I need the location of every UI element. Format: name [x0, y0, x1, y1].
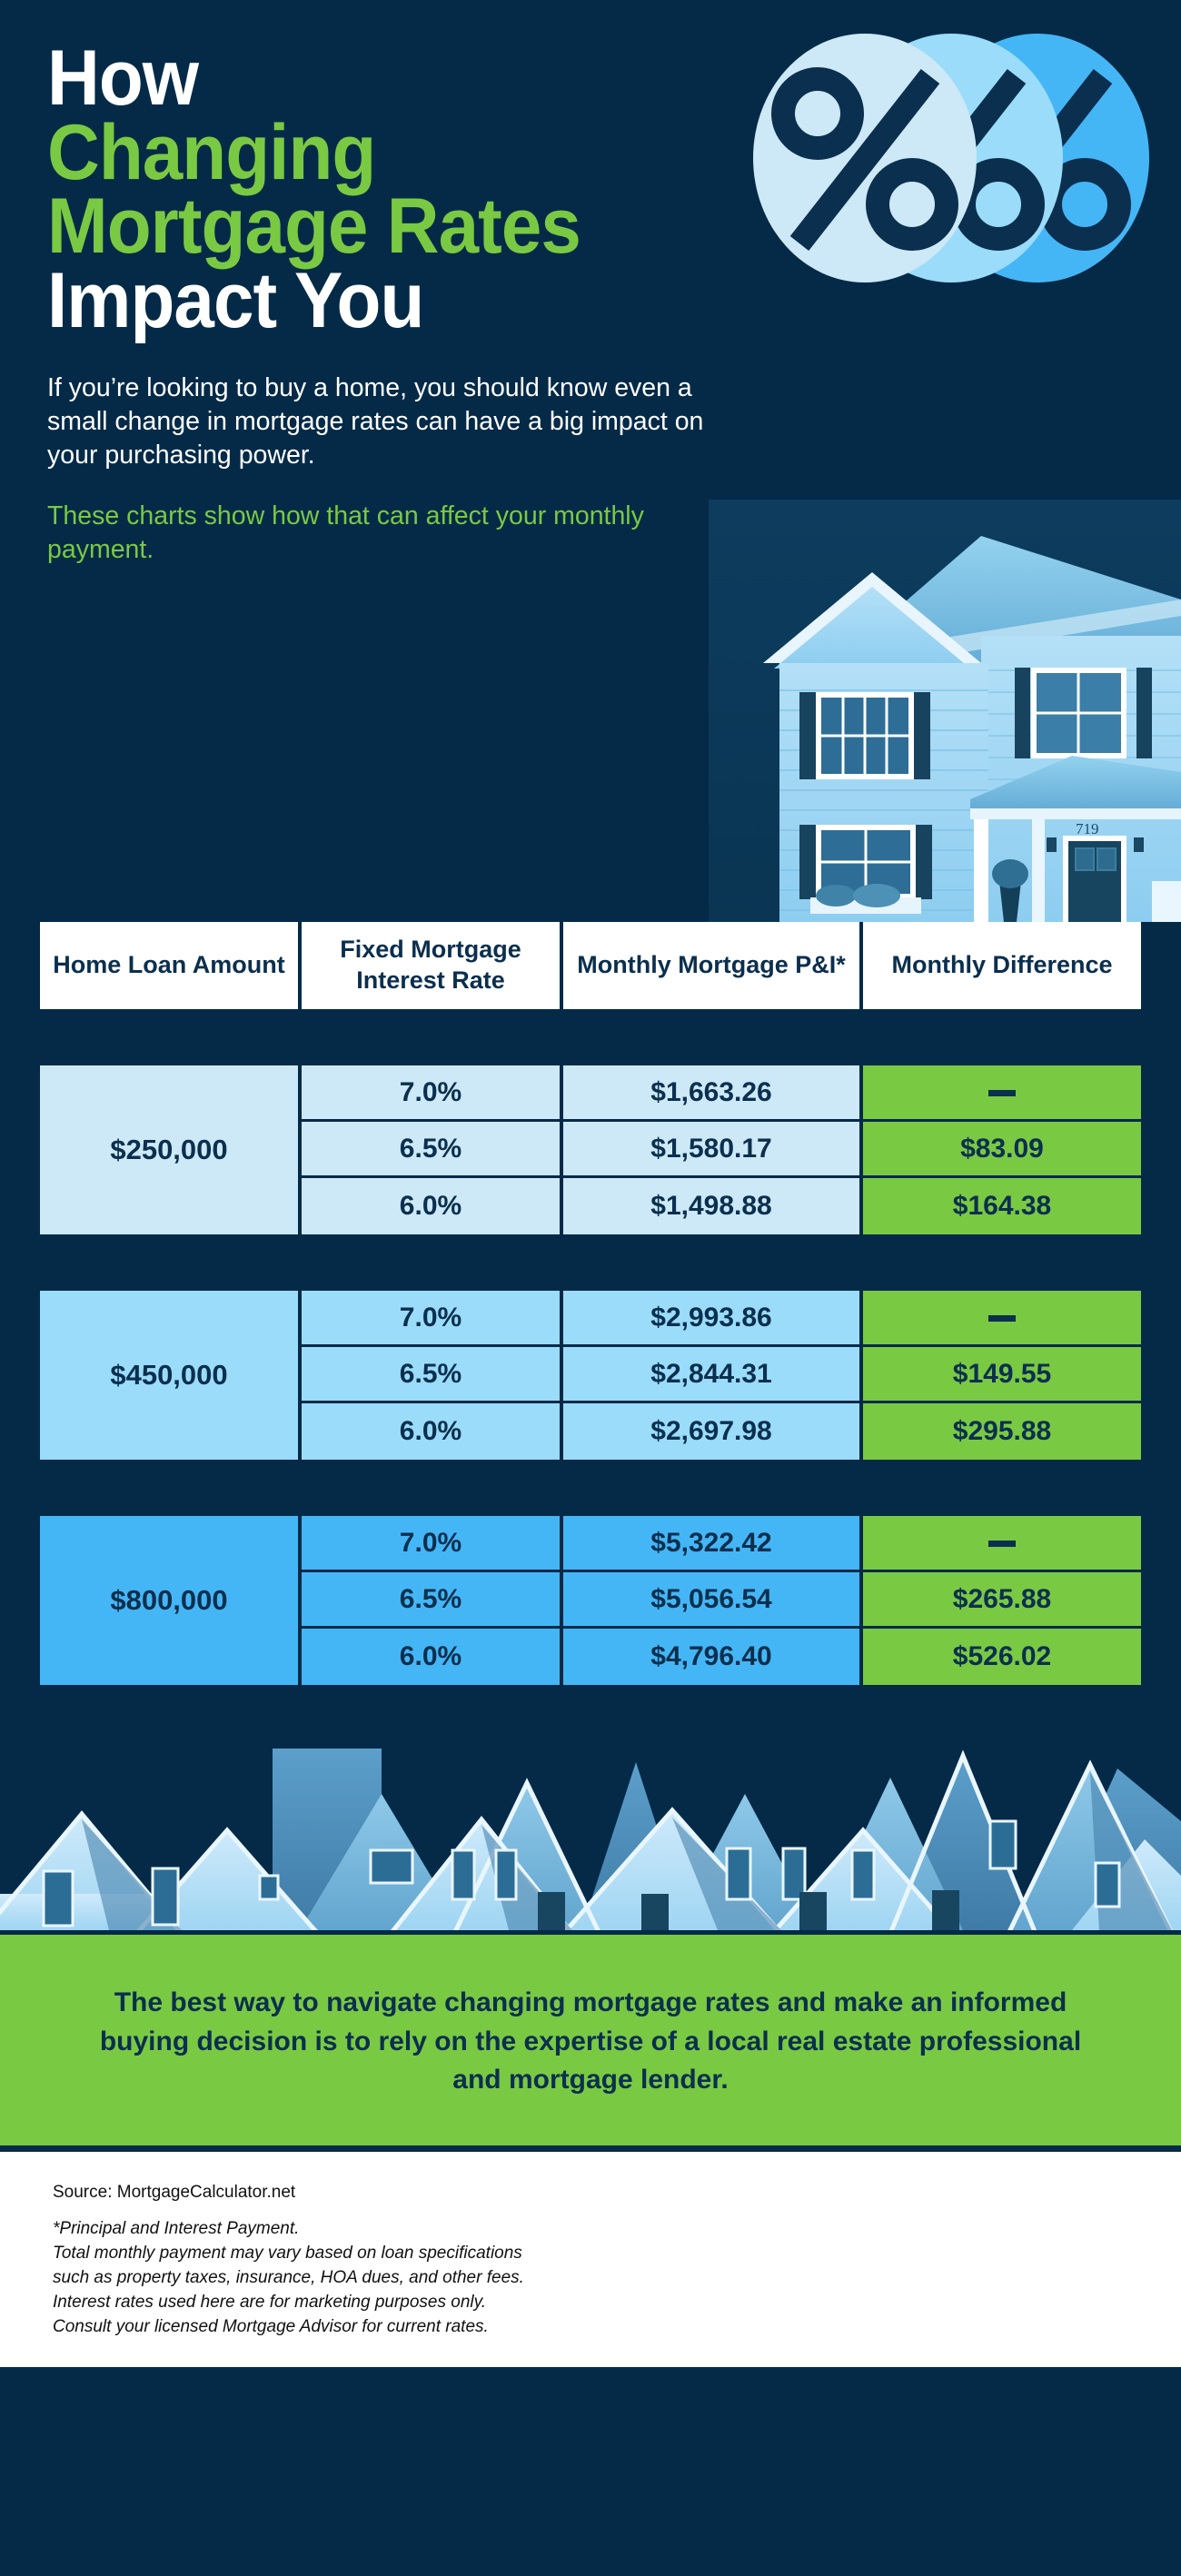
loan-amount-cell: $250,000 — [40, 1065, 302, 1234]
payment-cell: $1,663.26 — [563, 1065, 863, 1122]
difference-cell — [863, 1291, 1141, 1347]
col-header-monthly-diff: Monthly Difference — [863, 922, 1141, 1009]
dash-icon — [988, 1541, 1016, 1547]
col-header-interest-rate: Fixed Mortgage Interest Rate — [302, 922, 563, 1009]
difference-cell — [863, 1065, 1141, 1122]
disclaimer-block: *Principal and Interest Payment. Total m… — [53, 2217, 1128, 2340]
difference-cell: $149.55 — [863, 1347, 1141, 1403]
difference-cell: $295.88 — [863, 1403, 1141, 1460]
disclaimer-line-1: *Principal and Interest Payment. — [53, 2217, 1128, 2242]
house-rooftops-band — [0, 1712, 1181, 1930]
loan-amount-cell: $450,000 — [40, 1291, 302, 1460]
disclaimer-line-5: Consult your licensed Mortgage Advisor f… — [53, 2315, 1128, 2340]
payment-cell: $2,993.86 — [563, 1291, 863, 1347]
rate-cell: 6.5% — [302, 1122, 563, 1178]
table-header-row: Home Loan Amount Fixed Mortgage Interest… — [40, 922, 1141, 1009]
payment-cell: $2,844.31 — [563, 1347, 863, 1403]
loan-amount-cell: $800,000 — [40, 1516, 302, 1685]
table-row: $800,000 7.0% $5,322.42 — [40, 1516, 1141, 1572]
group-spacer — [40, 1234, 1141, 1291]
col-header-monthly-pi: Monthly Mortgage P&I* — [563, 922, 863, 1009]
disclaimer-line-4: Interest rates used here are for marketi… — [53, 2291, 1128, 2315]
percent-circles-icon — [692, 24, 1165, 296]
payment-cell: $4,796.40 — [563, 1629, 863, 1685]
difference-cell — [863, 1516, 1141, 1572]
headline-line-4: Impact You — [47, 264, 690, 339]
house-number-label: 719 — [1076, 820, 1099, 837]
group-spacer — [40, 1009, 1141, 1065]
callout-banner: The best way to navigate changing mortga… — [0, 1930, 1181, 2152]
col-header-loan-amount: Home Loan Amount — [40, 922, 302, 1009]
two-story-house-photo: 719 — [709, 500, 1181, 922]
hero-section: 719 — [0, 0, 1181, 922]
table-row: $250,000 7.0% $1,663.26 — [40, 1065, 1141, 1122]
rate-cell: 7.0% — [302, 1516, 563, 1572]
difference-cell: $164.38 — [863, 1178, 1141, 1234]
table-row: $450,000 7.0% $2,993.86 — [40, 1291, 1141, 1347]
payment-cell: $5,056.54 — [563, 1572, 863, 1629]
rate-cell: 6.5% — [302, 1572, 563, 1629]
rate-cell: 6.0% — [302, 1629, 563, 1685]
disclaimer-line-2: Total monthly payment may vary based on … — [53, 2242, 1128, 2266]
rate-cell: 7.0% — [302, 1065, 563, 1122]
group-spacer — [40, 1460, 1141, 1516]
hero-text-block: How Changing Mortgage Rates Impact You I… — [47, 42, 738, 567]
rates-table-section: Home Loan Amount Fixed Mortgage Interest… — [0, 922, 1181, 1685]
difference-cell: $526.02 — [863, 1629, 1141, 1685]
rate-cell: 6.0% — [302, 1403, 563, 1460]
mortgage-rates-table: Home Loan Amount Fixed Mortgage Interest… — [40, 922, 1141, 1685]
disclaimer-line-3: such as property taxes, insurance, HOA d… — [53, 2266, 1128, 2291]
rate-cell: 6.0% — [302, 1178, 563, 1234]
footer-section: Source: MortgageCalculator.net *Principa… — [0, 2152, 1181, 2367]
hero-paragraph: If you’re looking to buy a home, you sho… — [47, 372, 720, 472]
dash-icon — [988, 1315, 1016, 1322]
source-label: Source: MortgageCalculator.net — [53, 2183, 1128, 2203]
dash-icon — [988, 1090, 1016, 1096]
hero-subtext: These charts show how that can affect yo… — [47, 500, 683, 567]
rate-cell: 6.5% — [302, 1347, 563, 1403]
payment-cell: $1,498.88 — [563, 1178, 863, 1234]
headline-line-1: How — [47, 42, 690, 116]
difference-cell: $265.88 — [863, 1572, 1141, 1629]
rate-cell: 7.0% — [302, 1291, 563, 1347]
infographic-root: 719 — [0, 0, 1181, 2576]
page-title: How Changing Mortgage Rates Impact You — [47, 42, 690, 339]
headline-line-2: Changing — [47, 116, 690, 191]
difference-cell: $83.09 — [863, 1122, 1141, 1178]
payment-cell: $2,697.98 — [563, 1403, 863, 1460]
payment-cell: $1,580.17 — [563, 1122, 863, 1178]
headline-line-3: Mortgage Rates — [47, 190, 690, 264]
payment-cell: $5,322.42 — [563, 1516, 863, 1572]
callout-text: The best way to navigate changing mortga… — [78, 1984, 1103, 2100]
